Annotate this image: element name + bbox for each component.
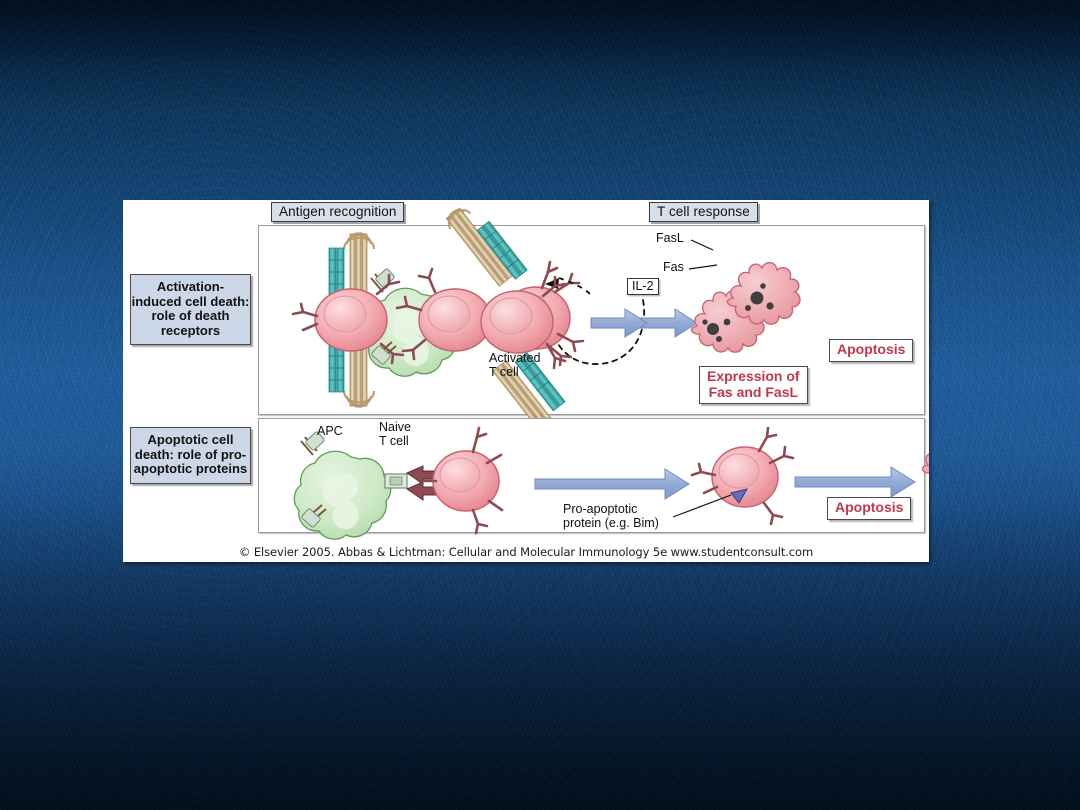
label-naive-t-cell: Naive T cell bbox=[379, 421, 411, 448]
arrow-to-apoptosis-top bbox=[591, 309, 647, 337]
row-label-activation-induced-cell-death: Activation- induced cell death: role of … bbox=[130, 274, 251, 345]
apoptotic-cell-bottom bbox=[922, 430, 929, 492]
label-apoptosis-bottom: Apoptosis bbox=[827, 497, 911, 520]
top-row-graphics bbox=[259, 226, 924, 414]
arrow-to-pro-apoptotic bbox=[535, 469, 689, 499]
label-activated-t-cell: Activated T cell bbox=[489, 352, 540, 379]
immune-synapse-bottom bbox=[385, 466, 439, 500]
apc-cell-bottom bbox=[294, 451, 390, 539]
label-il2: IL-2 bbox=[627, 278, 659, 295]
figure-credit: © Elsevier 2005. Abbas & Lichtman: Cellu… bbox=[123, 545, 929, 559]
label-pro-apoptotic-protein: Pro-apoptotic protein (e.g. Bim) bbox=[563, 503, 659, 530]
pro-apoptotic-leader-line bbox=[673, 495, 731, 517]
fas-fasl-cell-left bbox=[293, 233, 403, 407]
pro-apoptotic-t-cell bbox=[692, 428, 793, 524]
arrow-to-apoptosis-bottom bbox=[795, 467, 915, 497]
label-fas: Fas bbox=[663, 261, 684, 275]
header-tag-t-cell-response: T cell response bbox=[649, 202, 758, 222]
label-apc: APC bbox=[317, 425, 343, 439]
row-label-apoptotic-cell-death: Apoptotic cell death: role of pro-apopto… bbox=[130, 427, 251, 484]
label-expression-of-fas-and-fasl: Expression of Fas and FasL bbox=[699, 366, 808, 404]
apoptotic-cells-top bbox=[691, 263, 800, 353]
label-fasl: FasL bbox=[656, 232, 684, 246]
panel-bottom-row: APC Naive T cell Pro-apoptotic protein (… bbox=[258, 418, 925, 533]
immunology-figure: Antigen recognition T cell response Acti… bbox=[123, 200, 929, 562]
header-tag-antigen-recognition: Antigen recognition bbox=[271, 202, 404, 222]
naive-t-cell bbox=[423, 428, 502, 533]
panel-top-row: Activated T cell IL-2 FasL Fas Expressio… bbox=[258, 225, 925, 415]
label-apoptosis-top: Apoptosis bbox=[829, 339, 913, 362]
